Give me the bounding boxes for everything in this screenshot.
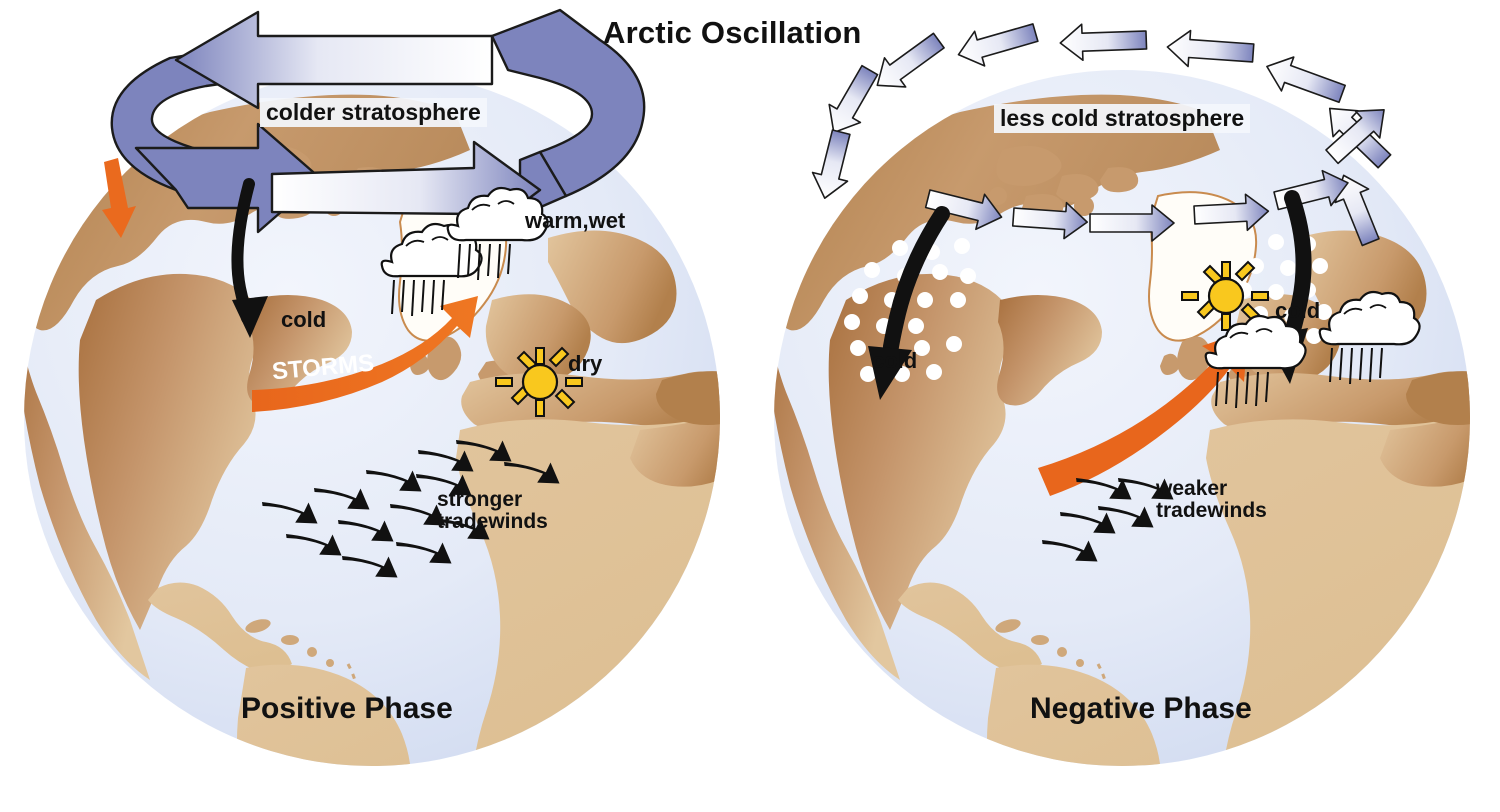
phase-label-negative: Negative Phase bbox=[1030, 692, 1252, 726]
cold-label-negative-east: cold bbox=[1275, 298, 1320, 324]
page-title: Arctic Oscillation bbox=[603, 15, 862, 51]
warm-wet-label: warm,wet bbox=[525, 208, 625, 234]
tradewinds-label-positive: stronger tradewinds bbox=[437, 489, 548, 533]
dry-label: dry bbox=[568, 351, 602, 377]
diagram-canvas bbox=[0, 0, 1500, 812]
phase-label-positive: Positive Phase bbox=[241, 692, 453, 726]
stratosphere-label-negative: less cold stratosphere bbox=[994, 104, 1250, 133]
arctic-oscillation-diagram: Arctic Oscillation colder stratosphere l… bbox=[0, 0, 1500, 812]
cold-label-negative-west: cold bbox=[872, 348, 917, 374]
stratosphere-label-positive: colder stratosphere bbox=[260, 98, 487, 127]
tradewinds-label-negative: weaker tradewinds bbox=[1156, 478, 1267, 522]
cold-label-positive: cold bbox=[281, 307, 326, 333]
